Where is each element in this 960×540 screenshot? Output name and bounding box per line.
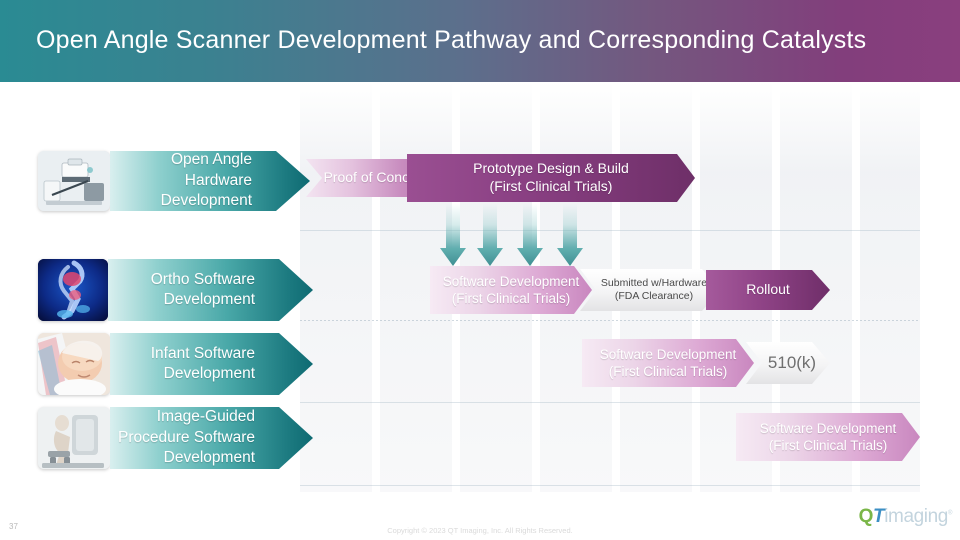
stage-ortho-software-development[interactable]: Software Development (First Clinical Tri… — [430, 266, 592, 314]
stage-label: Software Development (First Clinical Tri… — [443, 273, 580, 308]
stage-label-line2: (First Clinical Trials) — [473, 178, 629, 196]
image-guided-procedure-illustration — [38, 407, 110, 469]
ortho-leg-scan-photo — [38, 259, 108, 321]
row-label-line2: Procedure Software — [118, 428, 255, 448]
infant-photo — [38, 333, 110, 395]
down-arrow-head — [477, 248, 503, 266]
row-label-line3: Development — [118, 448, 255, 468]
down-arrow-shaft — [446, 204, 460, 250]
row-label-line1: Open Angle Hardware — [110, 150, 252, 191]
grid-column — [300, 82, 372, 492]
grid-row-divider — [300, 230, 920, 231]
down-arrow — [440, 204, 466, 266]
row-label-ortho-software[interactable]: Ortho Software Development — [108, 259, 313, 321]
image-guided-procedure-photo — [38, 407, 110, 469]
row-label-infant-software[interactable]: Infant Software Development — [110, 333, 313, 395]
row-label-text: Image-Guided Procedure Software Developm… — [118, 407, 313, 468]
grid-row-divider — [300, 320, 920, 321]
down-arrow — [517, 204, 543, 266]
down-arrow-head — [517, 248, 543, 266]
down-arrow-shaft — [483, 204, 497, 250]
row-label-text: Infant Software Development — [151, 344, 313, 385]
stage-label-line1: Submitted w/Hardware — [601, 277, 707, 290]
stage-label-line1: Software Development — [443, 273, 580, 290]
logo-letter-t: T — [873, 506, 884, 527]
infant-illustration — [38, 333, 110, 395]
grid-row-divider — [300, 402, 920, 403]
down-arrow-head — [440, 248, 466, 266]
down-arrow — [477, 204, 503, 266]
row-label-line2: Development — [151, 364, 255, 384]
row-label-text: Ortho Software Development — [151, 270, 313, 311]
page-title: Open Angle Scanner Development Pathway a… — [36, 26, 866, 55]
stage-prototype-design-build[interactable]: Prototype Design & Build (First Clinical… — [407, 154, 695, 202]
stage-label-line2: (First Clinical Trials) — [600, 363, 737, 380]
row-label-line1: Infant Software — [151, 344, 255, 364]
logo-registered-mark: ® — [948, 511, 952, 517]
stage-label-line1: Prototype Design & Build — [473, 160, 629, 178]
row-label-line1: Ortho Software — [151, 270, 255, 290]
stage-label-line1: Software Development — [760, 420, 897, 437]
down-arrow-shaft — [563, 204, 577, 250]
stage-label: 510(k) — [760, 352, 816, 374]
stage-label: Prototype Design & Build (First Clinical… — [473, 160, 629, 196]
stage-label-line1: Software Development — [600, 346, 737, 363]
down-arrow-head — [557, 248, 583, 266]
stage-label-line2: (FDA Clearance) — [601, 290, 707, 303]
stage-label: Software Development (First Clinical Tri… — [760, 420, 897, 455]
stage-submitted-with-hardware[interactable]: Submitted w/Hardware (FDA Clearance) — [580, 269, 720, 311]
stage-image-guided-software-development[interactable]: Software Development (First Clinical Tri… — [736, 413, 920, 461]
qt-imaging-logo: QTimaging® — [859, 506, 952, 528]
logo-letter-q: Q — [859, 506, 873, 527]
row-label-line2: Development — [151, 290, 255, 310]
copyright-notice: Copyright © 2023 QT Imaging, Inc. All Ri… — [0, 526, 960, 535]
row-label-line2: Development — [110, 191, 252, 211]
stage-label-line2: (First Clinical Trials) — [443, 290, 580, 307]
row-label-text: Open Angle Hardware Development — [110, 150, 310, 211]
slide: Open Angle Scanner Development Pathway a… — [0, 0, 960, 540]
stage-label: Submitted w/Hardware (FDA Clearance) — [593, 277, 707, 304]
row-label-line1: Image-Guided — [118, 407, 255, 427]
scanner-hardware-photo — [38, 151, 110, 211]
stage-label-line2: (First Clinical Trials) — [760, 437, 897, 454]
slide-header-bar: Open Angle Scanner Development Pathway a… — [0, 0, 960, 82]
row-label-open-angle-hardware[interactable]: Open Angle Hardware Development — [110, 151, 310, 211]
stage-label: Software Development (First Clinical Tri… — [600, 346, 737, 381]
down-arrow-shaft — [523, 204, 537, 250]
stage-infant-software-development[interactable]: Software Development (First Clinical Tri… — [582, 339, 754, 387]
ortho-leg-scan-illustration — [38, 259, 108, 321]
scanner-hardware-illustration — [38, 151, 110, 211]
stage-rollout[interactable]: Rollout — [706, 270, 830, 310]
logo-word-imaging: imaging — [884, 506, 948, 527]
grid-row-divider — [300, 485, 920, 486]
stage-label: Rollout — [746, 281, 790, 299]
row-label-image-guided-procedure-software[interactable]: Image-Guided Procedure Software Developm… — [110, 407, 313, 469]
down-arrow — [557, 204, 583, 266]
